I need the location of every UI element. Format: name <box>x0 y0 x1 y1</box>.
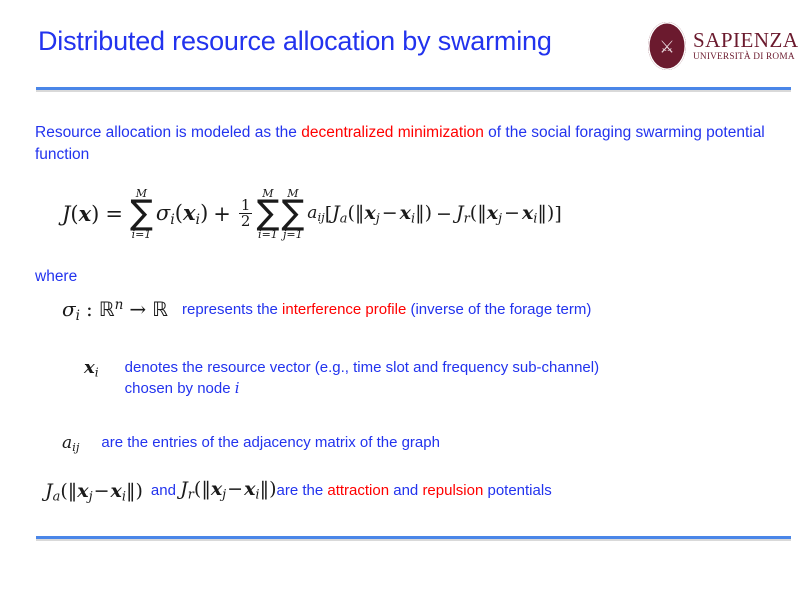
symbol-a-matrix-entry: aij <box>62 433 79 454</box>
equation-sigma-arg: x <box>183 200 196 225</box>
logo-wordmark: Sapienza Università di Roma <box>693 30 799 63</box>
equation-minus-1: − <box>382 202 398 224</box>
equation-J: J <box>62 202 70 226</box>
sigma-desc-part2: (inverse of the forage term) <box>406 301 591 318</box>
fraction-numerator: 1 <box>239 198 253 214</box>
sigma-desc-highlight: interference profile <box>282 301 406 318</box>
symbol-x-vector: xi <box>84 357 99 379</box>
main-equation: J(x) = M ∑ i=1 σi(xi) + 1 2 M ∑ i=1 M ∑ … <box>62 188 562 240</box>
equation-Jr: J <box>456 202 464 224</box>
equation-plus: + <box>213 202 231 226</box>
fraction-denominator: 2 <box>239 213 253 230</box>
definition-potentials-description: and Jr(‖xj−xi‖)are the attraction and re… <box>151 479 552 506</box>
logo-main-text: Sapienza <box>693 30 799 51</box>
potentials-desc-pre: are the <box>276 482 327 499</box>
equation-sum-2: M ∑ i=1 <box>256 188 279 240</box>
equation-Ja: J <box>332 202 340 224</box>
header-divider <box>36 87 791 92</box>
definition-item-sigma: σi:ℝn→ℝ represents the interference prof… <box>62 297 591 324</box>
equation-half-fraction: 1 2 <box>239 198 253 231</box>
symbol-Ja-potential: Ja(‖xj−xi‖) <box>45 480 143 505</box>
equation-Jr-sub: r <box>464 211 470 226</box>
logo-sub-text: Università di Roma <box>693 53 799 62</box>
potentials-desc-post: potentials <box>483 482 551 499</box>
crest-emblem-icon: ⚔ <box>659 38 674 55</box>
sigma-glyph-icon: ∑ <box>281 200 304 228</box>
definition-sigma-description: represents the interference profile (inv… <box>182 299 591 320</box>
x-desc-line2-symbol: i <box>235 379 240 397</box>
x-desc-line2-pre: chosen by node <box>125 380 235 397</box>
sum2-lower: i=1 <box>258 229 278 240</box>
slide: Distributed resource allocation by swarm… <box>0 0 800 599</box>
equation-a-sub: ij <box>317 211 324 225</box>
equation-equals: = <box>105 202 123 226</box>
potentials-highlight-repulsion: repulsion <box>422 482 483 499</box>
symbol-sigma-mapping: σi:ℝn→ℝ <box>62 297 168 324</box>
definition-a-description: are the entries of the adjacency matrix … <box>101 432 440 453</box>
sigma-glyph-icon: ∑ <box>256 200 279 228</box>
sapienza-crest-icon: ⚔ <box>648 22 686 70</box>
intro-paragraph: Resource allocation is modeled as the de… <box>35 122 775 166</box>
definition-item-x: xi denotes the resource vector (e.g., ti… <box>84 357 599 400</box>
x-desc-line1: denotes the resource vector (e.g., time … <box>125 359 599 376</box>
intro-text-part1: Resource allocation is modeled as the <box>35 124 301 141</box>
sigma-desc-part1: represents the <box>182 301 282 318</box>
potentials-connector: and <box>151 482 176 499</box>
equation-minus-main: − <box>436 203 452 225</box>
definition-item-a: aij are the entries of the adjacency mat… <box>62 433 440 454</box>
equation-bracket-close: ] <box>554 203 561 225</box>
equation-sigma: σ <box>156 201 170 225</box>
equation-sum-3: M ∑ j=1 <box>281 188 304 240</box>
definition-x-description: denotes the resource vector (e.g., time … <box>125 357 599 399</box>
footer-divider <box>36 536 791 541</box>
page-title: Distributed resource allocation by swarm… <box>38 26 552 57</box>
intro-highlight: decentralized minimization <box>301 124 484 141</box>
equation-minus-2: − <box>504 202 520 224</box>
equation-sum-1: M ∑ i=1 <box>130 188 153 240</box>
equation-Ja-sub: a <box>340 211 348 226</box>
definition-item-potentials: Ja(‖xj−xi‖) and Jr(‖xj−xi‖)are the attra… <box>45 480 552 508</box>
potentials-highlight-attraction: attraction <box>327 482 389 499</box>
sigma-glyph-icon: ∑ <box>130 200 153 228</box>
equation-a: a <box>307 203 317 223</box>
sum3-lower: j=1 <box>283 229 303 240</box>
sapienza-logo: ⚔ Sapienza Università di Roma <box>648 20 796 72</box>
potentials-desc-mid: and <box>389 482 422 499</box>
sum1-lower: i=1 <box>132 229 152 240</box>
symbol-Jr-potential: Jr(‖xj−xi‖) <box>180 478 276 500</box>
where-label: where <box>35 268 77 286</box>
equation-x: x <box>79 201 92 226</box>
